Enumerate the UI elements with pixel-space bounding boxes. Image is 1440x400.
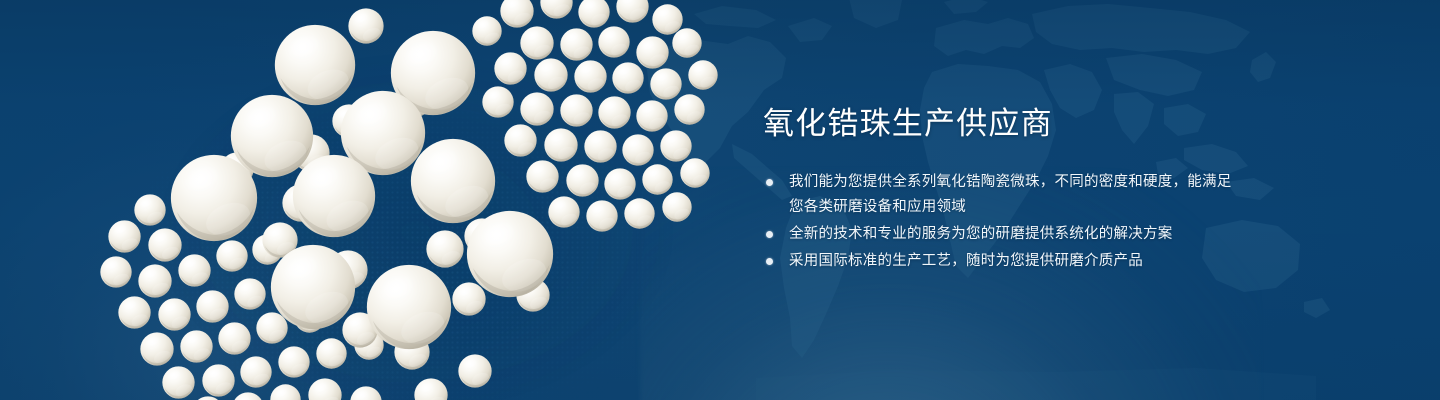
banner-headline: 氧化锆珠生产供应商 xyxy=(763,102,1283,146)
bullet-item: 我们能为您提供全系列氧化锆陶瓷微珠，不同的密度和硬度，能满足您各类研磨设备和应用… xyxy=(763,170,1233,220)
bullet-circle-icon xyxy=(766,231,773,238)
bullet-text: 采用国际标准的生产工艺，随时为您提供研磨介质产品 xyxy=(789,253,1143,269)
hero-banner: 氧化锆珠生产供应商 我们能为您提供全系列氧化锆陶瓷微珠，不同的密度和硬度，能满足… xyxy=(0,0,1440,400)
bullet-item: 全新的技术和专业的服务为您的研磨提供系统化的解决方案 xyxy=(763,222,1233,247)
banner-content: 氧化锆珠生产供应商 我们能为您提供全系列氧化锆陶瓷微珠，不同的密度和硬度，能满足… xyxy=(763,102,1283,276)
bullet-text: 我们能为您提供全系列氧化锆陶瓷微珠，不同的密度和硬度，能满足您各类研磨设备和应用… xyxy=(789,174,1232,215)
bullet-text: 全新的技术和专业的服务为您的研磨提供系统化的解决方案 xyxy=(789,226,1173,242)
bullet-circle-icon xyxy=(766,258,773,265)
bullet-circle-icon xyxy=(766,179,773,186)
zirconia-beads-photo xyxy=(96,0,756,400)
bullet-item: 采用国际标准的生产工艺，随时为您提供研磨介质产品 xyxy=(763,249,1233,274)
banner-bullet-list: 我们能为您提供全系列氧化锆陶瓷微珠，不同的密度和硬度，能满足您各类研磨设备和应用… xyxy=(763,170,1283,274)
